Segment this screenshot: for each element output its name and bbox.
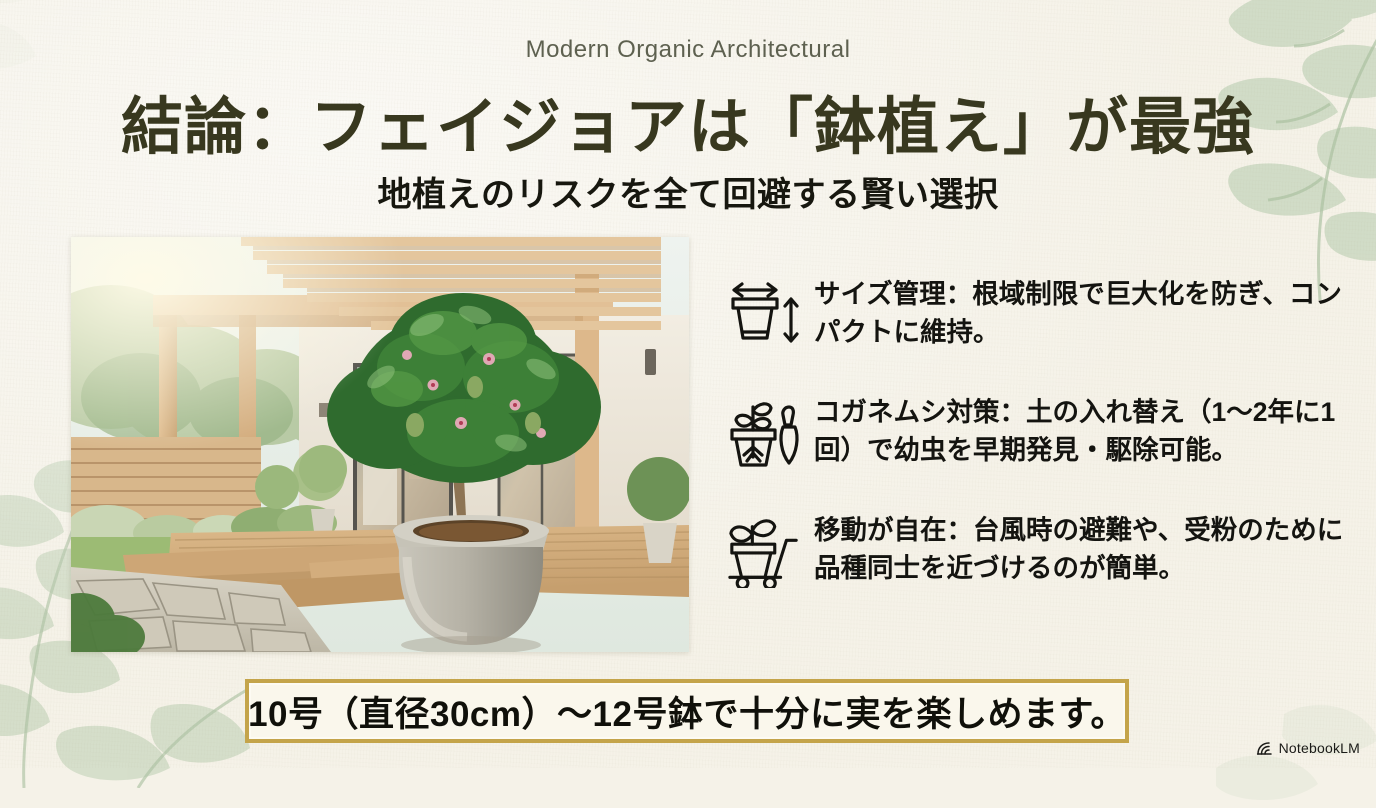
benefits-list: サイズ管理：根域制限で巨大化を防ぎ、コンパクトに維持。 コガネムシ対策：土の入 [726,272,1366,626]
notebooklm-watermark: NotebookLM [1256,740,1360,756]
hero-photo [71,237,689,652]
slide-kicker: Modern Organic Architectural [0,36,1376,64]
decorative-leaves-bottom-right [1206,648,1376,808]
list-item: サイズ管理：根域制限で巨大化を防ぎ、コンパクトに維持。 [726,272,1366,354]
slide-title: 結論：フェイジョアは「鉢植え」が最強 [0,76,1376,166]
callout-box: 10号（直径30cm）〜12号鉢で十分に実を楽しめます。 [245,679,1129,743]
list-item-text: 移動が自在：台風時の避難や、受粉のために品種同士を近づけるのが簡単。 [814,508,1366,587]
potted-seedling-trowel-icon [726,394,804,472]
hero-photo-illustration [71,237,689,652]
list-item: コガネムシ対策：土の入れ替え（1〜2年に1回）で幼虫を早期発見・駆除可能。 [726,390,1366,472]
list-item: 移動が自在：台風時の避難や、受粉のために品種同士を近づけるのが簡単。 [726,508,1366,590]
notebooklm-label: NotebookLM [1279,740,1360,756]
slide-subtitle: 地植えのリスクを全て回避する賢い選択 [0,167,1376,216]
callout-text: 10号（直径30cm）〜12号鉢で十分に実を楽しめます。 [248,686,1126,737]
notebooklm-logo-icon [1256,741,1273,756]
list-item-text: サイズ管理：根域制限で巨大化を防ぎ、コンパクトに維持。 [814,272,1366,351]
list-item-text: コガネムシ対策：土の入れ替え（1〜2年に1回）で幼虫を早期発見・駆除可能。 [814,390,1366,469]
potted-plant-cart-icon [726,512,804,590]
pot-size-arrows-icon [726,276,804,354]
